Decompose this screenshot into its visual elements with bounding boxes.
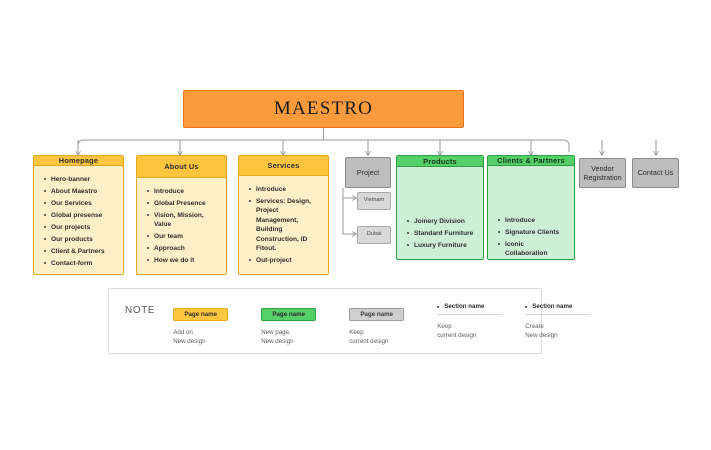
about-us-item-list: IntroduceGlobal PresenceVision, Mission,…: [143, 187, 220, 266]
legend-chip-gray: Page name: [349, 308, 404, 321]
list-item: Our team: [154, 232, 220, 241]
list-item: Joinery Division: [414, 217, 477, 226]
list-item: Our projects: [51, 223, 117, 232]
card-products[interactable]: Products Joinery DivisionStandard Furnit…: [396, 155, 484, 260]
legend-list: Page nameAdd onNew designPage nameNew pa…: [155, 289, 599, 346]
card-body-products: Joinery DivisionStandard FurnitureLuxury…: [397, 167, 483, 259]
legend-section-label: Section name: [437, 303, 502, 315]
card-body-services: IntroduceServices: Design, Project Manag…: [239, 176, 328, 274]
list-item: Iconic Collaboration: [505, 240, 568, 259]
list-item: Approach: [154, 244, 220, 253]
card-title-services: Services: [239, 156, 328, 176]
legend-item: Page nameNew page,New design: [261, 303, 335, 346]
legend-chip-green: Page name: [261, 308, 316, 321]
node-vendor-registration-label: Vendor Registration: [583, 164, 622, 183]
note-title: NOTE: [109, 289, 155, 316]
list-item: Standard Furniture: [414, 229, 477, 238]
legend-description: CreateNew design: [525, 322, 599, 340]
card-title-about-us: About Us: [137, 156, 226, 178]
root-title: MAESTRO: [274, 98, 373, 120]
legend-item: Section nameCreateNew design: [525, 303, 599, 346]
sitemap-diagram: MAESTRO Homepage Hero-bannerAbout Maestr…: [0, 0, 711, 450]
node-project-vietnam[interactable]: Vietnam: [357, 192, 391, 210]
legend-item: Page nameAdd onNew design: [173, 303, 247, 346]
card-title-products: Products: [397, 156, 483, 167]
list-item: Out-project: [256, 256, 322, 265]
legend-section-label: Section name: [525, 303, 590, 315]
services-item-list: IntroduceServices: Design, Project Manag…: [245, 185, 322, 265]
root-node-maestro[interactable]: MAESTRO: [183, 90, 464, 128]
legend-description: Keepcurrent design: [349, 328, 423, 346]
products-item-list: Joinery DivisionStandard FurnitureLuxury…: [403, 217, 477, 250]
card-services[interactable]: Services IntroduceServices: Design, Proj…: [238, 155, 329, 275]
list-item: Hero-banner: [51, 175, 117, 184]
node-project-vietnam-label: Vietnam: [364, 196, 384, 206]
card-body-homepage: Hero-bannerAbout MaestroOur ServicesGlob…: [34, 166, 123, 275]
list-item: Global Presence: [154, 199, 220, 208]
legend-item: Page nameKeepcurrent design: [349, 303, 423, 346]
list-item: Vision, Mission, Value: [154, 211, 220, 230]
card-title-homepage: Homepage: [34, 156, 123, 166]
node-project-dubai-label: Dubai: [367, 230, 382, 240]
list-item: Our products: [51, 235, 117, 244]
list-item: Signature Clients: [505, 228, 568, 237]
node-project-label: Project: [357, 168, 379, 178]
list-item: Global presense: [51, 211, 117, 220]
list-item: Our Services: [51, 199, 117, 208]
legend-description: Keepcurrent design: [437, 322, 511, 340]
list-item: About Maestro: [51, 187, 117, 196]
list-item: Introduce: [154, 187, 220, 196]
card-body-clients-partners: IntroduceSignature ClientsIconic Collabo…: [488, 166, 574, 260]
card-about-us[interactable]: About Us IntroduceGlobal PresenceVision,…: [136, 155, 227, 275]
legend-chip-amber: Page name: [173, 308, 228, 321]
card-clients-partners[interactable]: Clients & Partners IntroduceSignature Cl…: [487, 155, 575, 260]
list-item: Client & Partners: [51, 247, 117, 256]
node-vendor-registration[interactable]: Vendor Registration: [579, 158, 626, 188]
list-item: How we do it: [154, 256, 220, 265]
legend-item: Section nameKeepcurrent design: [437, 303, 511, 346]
node-contact-us[interactable]: Contact Us: [632, 158, 679, 188]
note-panel: NOTE Page nameAdd onNew designPage nameN…: [108, 288, 542, 354]
node-project[interactable]: Project: [345, 157, 391, 188]
clients-partners-item-list: IntroduceSignature ClientsIconic Collabo…: [494, 216, 568, 259]
node-project-dubai[interactable]: Dubai: [357, 226, 391, 244]
legend-description: Add onNew design: [173, 328, 247, 346]
list-item: Services: Design, Project Management, Bu…: [256, 197, 322, 253]
card-homepage[interactable]: Homepage Hero-bannerAbout MaestroOur Ser…: [33, 155, 124, 275]
list-item: Introduce: [505, 216, 568, 225]
list-item: Luxury Furniture: [414, 241, 477, 250]
card-title-clients-partners: Clients & Partners: [488, 156, 574, 166]
homepage-item-list: Hero-bannerAbout MaestroOur ServicesGlob…: [40, 175, 117, 268]
node-contact-us-label: Contact Us: [638, 168, 674, 178]
list-item: Contact-form: [51, 259, 117, 268]
list-item: Introduce: [256, 185, 322, 194]
legend-description: New page,New design: [261, 328, 335, 346]
card-body-about-us: IntroduceGlobal PresenceVision, Mission,…: [137, 178, 226, 274]
